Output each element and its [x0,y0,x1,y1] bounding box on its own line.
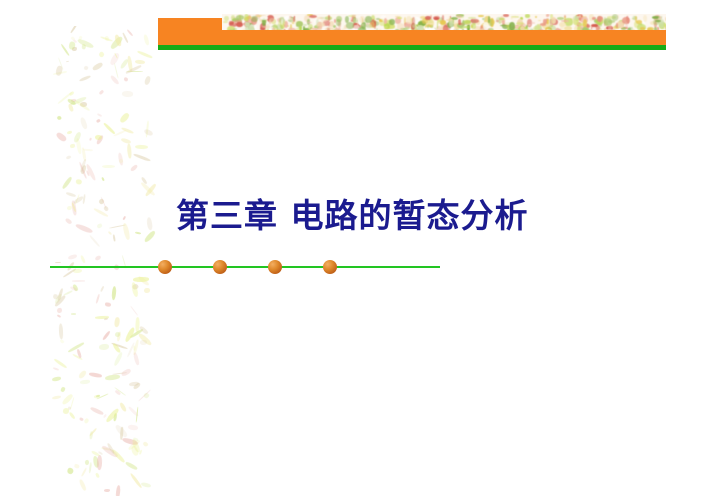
confetti-petal [61,387,66,393]
confetti-petal [74,464,80,469]
photo-strip-blob [359,16,365,24]
photo-strip-blob [273,29,281,31]
photo-strip-blob [397,17,402,19]
confetti-petal [122,216,126,221]
photo-strip-blob [369,22,375,28]
confetti-petal [56,131,68,142]
photo-strip-blob [535,16,538,18]
photo-strip-blob [463,26,470,28]
divider-bullet-sphere [323,260,337,274]
photo-strip-blob [346,22,354,28]
photo-strip-blob [325,17,332,20]
photo-strip-blob [443,27,449,30]
confetti-petal [105,303,111,307]
photo-strip-blob [654,27,657,30]
confetti-petal [89,137,92,141]
photo-strip-blob [389,19,394,25]
confetti-petal [91,61,103,71]
confetti-petal [99,344,109,350]
photo-strip-blob [228,29,235,30]
confetti-petal [76,137,82,153]
confetti-petal [56,115,62,121]
confetti-petal [78,479,86,491]
confetti-petal [66,131,71,135]
photo-strip-blob [281,19,283,26]
header-green-rule [158,45,666,50]
divider-bullet-sphere [268,260,282,274]
photo-strip-blob [376,18,381,20]
confetti-petal [126,29,133,36]
photo-strip-blob [482,18,485,20]
photo-strip-blob [283,29,286,30]
photo-strip-blob [292,28,295,30]
photo-strip-blob [526,25,528,28]
confetti-petal [130,306,138,316]
photo-strip-blob [236,15,244,20]
confetti-petal [95,472,100,478]
photo-strip-blob [289,16,292,18]
confetti-petal [102,330,111,341]
photo-strip-blob [352,15,356,17]
photo-strip-blob [336,19,340,25]
confetti-petal [67,342,84,353]
confetti-petal [78,74,90,81]
photo-strip-blob [325,27,334,30]
photo-strip-blob [503,14,509,17]
confetti-petal [97,223,103,228]
confetti-petal [104,489,110,492]
confetti-petal [98,90,103,95]
photo-strip-blob [423,29,425,30]
photo-strip-blob [229,21,234,25]
photo-strip-blob [269,18,275,22]
confetti-petal [138,390,151,403]
confetti-petal [104,408,119,424]
photo-strip-blob [440,20,446,25]
confetti-petal [66,155,72,160]
confetti-petal [146,217,153,230]
header-banner [158,14,666,50]
confetti-petal [133,352,140,366]
confetti-petal [89,428,97,437]
photo-strip-blob [643,15,647,22]
confetti-petal [96,119,101,124]
photo-strip-blob [548,25,556,30]
confetti-petal [113,317,119,327]
confetti-petal [58,323,63,339]
photo-strip-blob [540,23,546,26]
photo-strip-blob [378,29,382,30]
confetti-petal [95,294,100,304]
confetti-petal [124,77,129,82]
photo-strip-blob [525,14,530,18]
photo-strip-blob [456,15,462,18]
confetti-petal [65,217,73,225]
confetti-petal [113,352,124,367]
confetti-petal [100,286,104,292]
photo-strip-blob [513,29,521,30]
confetti-petal [66,191,76,196]
confetti-petal [52,377,61,382]
confetti-petal [102,165,115,169]
photo-strip-blob [528,24,531,26]
photo-strip-blob [471,23,477,29]
floral-photo-strip [222,14,666,30]
photo-strip-blob [250,28,255,31]
confetti-petal [129,472,142,488]
confetti-petal [57,308,63,314]
photo-strip-blob [591,24,597,28]
title-divider [50,258,442,278]
confetti-petal [118,402,126,413]
confetti-petal [88,463,91,474]
confetti-petal [72,280,85,281]
confetti-petal [142,441,148,447]
photo-strip-blob [640,27,645,30]
confetti-petal [109,75,120,86]
photo-strip-blob [664,27,666,30]
photo-strip-blob [303,24,307,26]
divider-bullet-sphere [158,260,172,274]
photo-strip-blob [397,23,404,30]
page-title: 第三章 电路的暂态分析 [176,196,576,236]
photo-strip-blob [538,20,541,22]
photo-strip-blob [622,17,630,25]
confetti-petal [82,193,86,203]
confetti-petal [121,90,132,97]
photo-strip-blob [307,22,311,24]
confetti-petal [97,113,102,117]
photo-strip-blob [303,26,305,30]
confetti-petal [96,454,102,469]
confetti-petal [81,467,88,477]
confetti-petal [105,374,120,380]
confetti-petal [63,408,69,414]
confetti-petal [108,231,112,235]
confetti-petal [103,122,115,134]
confetti-petal [103,205,109,212]
confetti-petal [143,34,149,46]
confetti-petal [134,60,144,65]
confetti-petal [115,484,121,496]
confetti-petal [101,177,105,181]
confetti-petal [55,65,63,76]
confetti-petal [52,395,61,399]
confetti-petal [80,117,88,130]
photo-strip-blob [262,26,270,28]
confetti-petal [90,406,104,415]
photo-strip-blob [462,29,464,30]
photo-strip-blob [496,20,499,23]
confetti-petal [83,65,89,71]
photo-strip-blob [608,20,616,22]
confetti-petal [122,223,130,241]
confetti-petal [141,482,152,488]
photo-strip-blob [491,20,495,24]
confetti-petal [63,290,73,296]
confetti-petal [80,380,90,385]
photo-strip-blob [429,28,437,30]
confetti-petal [70,144,75,148]
confetti-petal [75,178,81,184]
photo-strip-blob [405,26,409,30]
photo-strip-blob [647,28,652,30]
confetti-petal [70,26,78,33]
confetti-petal [122,33,128,44]
photo-strip-blob [450,27,456,30]
confetti-petal [143,288,149,293]
photo-strip-blob [236,22,243,27]
confetti-petal [61,176,72,189]
confetti-petal [53,367,59,371]
photo-strip-blob [464,20,470,24]
photo-strip-blob [318,27,322,30]
confetti-petal [135,231,141,234]
photo-strip-blob [223,21,228,23]
photo-strip-blob [376,28,378,30]
photo-strip-blob [317,22,325,26]
confetti-petal [89,372,102,378]
confetti-petal [104,318,108,321]
photo-strip-blob [478,15,485,17]
photo-strip-blob [406,16,412,23]
confetti-petal [98,51,105,58]
photo-strip-blob [488,16,490,23]
photo-strip-blob [550,19,552,26]
confetti-petal [143,128,153,137]
confetti-petal [68,411,75,419]
confetti-petal [140,340,147,345]
photo-strip-blob [231,15,235,21]
confetti-petal [70,313,75,315]
photo-strip-blob [488,28,493,30]
photo-strip-blob [573,16,579,20]
title-slide: 第三章 电路的暂态分析 [0,0,713,504]
confetti-petal [127,424,137,431]
photo-strip-blob [428,21,433,23]
confetti-petal [133,153,151,162]
confetti-petal [66,467,73,475]
photo-strip-blob [412,17,415,25]
confetti-petal [57,314,61,318]
confetti-petal [130,164,139,172]
confetti-petal [78,369,88,379]
photo-strip-blob [434,17,439,20]
photo-strip-blob [446,19,453,21]
photo-strip-blob [655,20,661,22]
confetti-petal [66,61,69,63]
photo-strip-blob [311,29,316,31]
confetti-petal [143,230,157,244]
confetti-petal [137,50,152,58]
confetti-petal [125,460,138,470]
confetti-petal [83,417,89,423]
photo-strip-blob [631,27,633,30]
confetti-petal [118,112,130,124]
photo-strip-blob [557,17,565,20]
confetti-petal [127,143,132,158]
photo-strip-blob [608,25,612,30]
confetti-petal [144,75,152,85]
confetti-petal [68,90,74,95]
divider-line [50,266,440,268]
divider-bullet-sphere [213,260,227,274]
confetti-petal [113,234,116,241]
confetti-petal [135,145,148,150]
photo-strip-blob [295,28,300,30]
confetti-petal [89,235,101,248]
photo-strip-blob [458,19,461,25]
orange-banner-left-fill [158,18,222,45]
confetti-petal [112,286,118,301]
confetti-petal [120,368,131,377]
confetti-petal [75,223,94,235]
confetti-petal [59,339,64,344]
confetti-petal [79,417,84,422]
